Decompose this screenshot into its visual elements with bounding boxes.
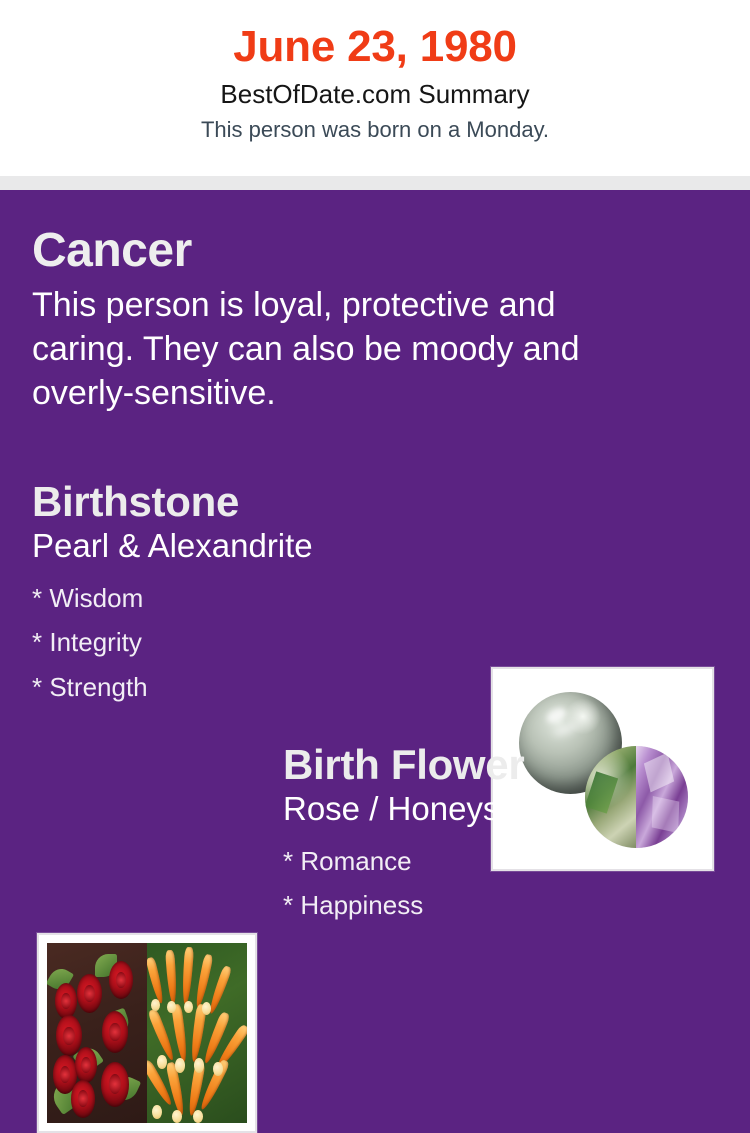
birth-flower-photo [47, 943, 247, 1123]
rose-bloom-icon [102, 1011, 128, 1052]
rose-bloom-icon [77, 974, 102, 1014]
page-title-date: June 23, 1980 [0, 22, 750, 71]
birthstone-trait-list: * Wisdom * Integrity * Strength [32, 576, 472, 710]
rose-bloom-icon [75, 1047, 97, 1083]
floret-tip [157, 1055, 167, 1069]
birth-flower-heading: Birth Flower [283, 741, 723, 788]
birth-flower-subtitle: Rose / Honeysuckle [283, 789, 723, 829]
floret-tip [194, 1058, 204, 1072]
floret-tip [151, 999, 160, 1012]
zodiac-sign-name: Cancer [32, 226, 652, 277]
page-header: June 23, 1980 BestOfDate.com Summary Thi… [0, 0, 750, 176]
birth-flower-section: Birth Flower Rose / Honeysuckle * Romanc… [283, 741, 723, 928]
header-divider [0, 176, 750, 190]
honeysuckle-floret-icon [165, 950, 178, 1004]
zodiac-section: Cancer This person is loyal, protective … [32, 226, 652, 415]
honeysuckle-half [147, 943, 247, 1123]
rose-bloom-icon [101, 1062, 129, 1107]
floret-tip [193, 1110, 203, 1123]
honeysuckle-floret-icon [181, 946, 194, 1004]
birthstone-section: Birthstone Pearl & Alexandrite * Wisdom … [32, 478, 472, 710]
list-item: * Wisdom [32, 576, 472, 621]
birthstone-heading: Birthstone [32, 478, 472, 525]
floret-tip [152, 1105, 162, 1119]
birthday-summary-page: { "header": { "date": "June 23, 1980", "… [0, 0, 750, 1000]
list-item: * Strength [32, 665, 472, 710]
list-item: * Integrity [32, 620, 472, 665]
rose-bloom-icon [71, 1080, 95, 1118]
birth-flower-photo-frame [37, 933, 257, 1133]
roses-half [47, 943, 147, 1123]
floret-tip [175, 1058, 185, 1072]
pearl-highlight-primary [544, 705, 569, 726]
floret-tip [202, 1002, 211, 1015]
pearl-highlight-secondary [552, 722, 578, 738]
rose-bloom-icon [109, 961, 133, 999]
rose-bloom-icon [55, 983, 77, 1019]
birthstone-subtitle: Pearl & Alexandrite [32, 526, 472, 566]
zodiac-description: This person is loyal, protective and car… [32, 283, 632, 416]
honeysuckle-floret-icon [147, 957, 166, 1005]
floret-tip [172, 1110, 182, 1123]
floret-tip [167, 1001, 176, 1014]
birth-flower-trait-list: * Romance * Happiness [283, 839, 723, 928]
floret-tip [184, 1001, 193, 1014]
site-summary-label: BestOfDate.com Summary [0, 77, 750, 112]
list-item: * Romance [283, 839, 723, 884]
weekday-statement: This person was born on a Monday. [0, 115, 750, 145]
list-item: * Happiness [283, 883, 723, 928]
floret-tip [213, 1062, 223, 1076]
summary-panel: Cancer This person is loyal, protective … [0, 190, 750, 1000]
